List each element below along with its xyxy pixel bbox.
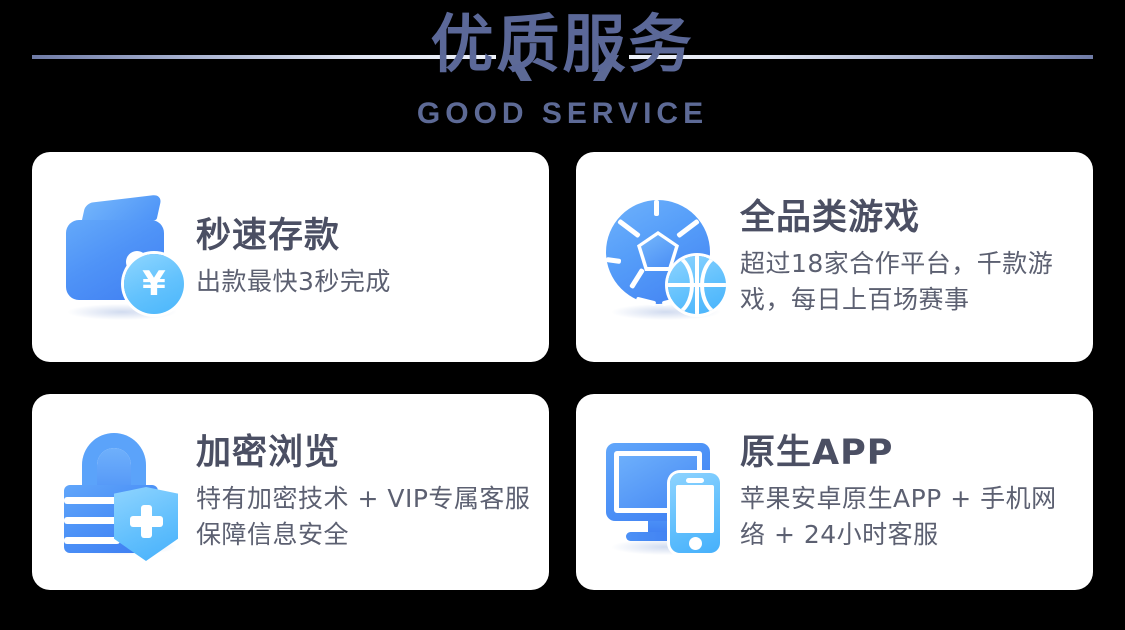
soccer-basketball-icon (602, 192, 732, 322)
basketball-icon (668, 256, 726, 314)
soccer-seam (654, 200, 659, 216)
feature-card-native-app[interactable]: 原生APP 苹果安卓原生APP + 手机网络 + 24小时客服 (576, 394, 1093, 590)
page-subtitle: GOOD SERVICE (0, 97, 1125, 131)
feature-card-games[interactable]: 全品类游戏 超过18家合作平台，千款游戏，每日上百场赛事 (576, 152, 1093, 362)
basketball-seam-arc-right (700, 256, 726, 314)
yen-symbol-icon: ¥ (124, 254, 184, 314)
card-text-block: 加密浏览 特有加密技术 + VIP专属客服保障信息安全 (196, 431, 531, 553)
lock-stripe (64, 497, 120, 504)
page-title: 优质服务 (0, 6, 1125, 84)
card-subtitle: 出款最快3秒完成 (196, 264, 531, 300)
card-title: 原生APP (740, 431, 1075, 475)
soccer-seam (606, 257, 622, 264)
phone-home-button-icon (689, 537, 702, 550)
lock-stripe (64, 517, 120, 524)
feature-card-grid: ¥ 秒速存款 出款最快3秒完成 (32, 152, 1093, 590)
card-text-block: 秒速存款 出款最快3秒完成 (196, 214, 531, 300)
card-title: 秒速存款 (196, 214, 531, 258)
phone-speaker-icon (686, 478, 704, 483)
lock-shield-icon (58, 427, 188, 557)
phone-screen-icon (676, 485, 714, 533)
feature-card-deposit[interactable]: ¥ 秒速存款 出款最快3秒完成 (32, 152, 549, 362)
feature-card-encryption[interactable]: 加密浏览 特有加密技术 + VIP专属客服保障信息安全 (32, 394, 549, 590)
card-title: 全品类游戏 (740, 196, 1075, 240)
card-text-block: 全品类游戏 超过18家合作平台，千款游戏，每日上百场赛事 (740, 196, 1075, 318)
soccer-seam (676, 219, 700, 239)
basketball-seam-arc-left (668, 256, 694, 314)
card-subtitle: 超过18家合作平台，千款游戏，每日上百场赛事 (740, 246, 1075, 318)
lock-stripe (64, 537, 120, 544)
plus-icon (130, 516, 163, 527)
card-subtitle: 苹果安卓原生APP + 手机网络 + 24小时客服 (740, 481, 1075, 553)
card-subtitle: 特有加密技术 + VIP专属客服保障信息安全 (196, 481, 531, 553)
page-header: 优质服务 GOOD SERVICE (0, 0, 1125, 140)
card-title: 加密浏览 (196, 431, 531, 475)
monitor-phone-icon (602, 427, 732, 557)
soccer-seam (617, 219, 641, 239)
soccer-seam (629, 268, 645, 289)
wallet-yen-icon: ¥ (58, 192, 188, 322)
card-text-block: 原生APP 苹果安卓原生APP + 手机网络 + 24小时客服 (740, 431, 1075, 553)
